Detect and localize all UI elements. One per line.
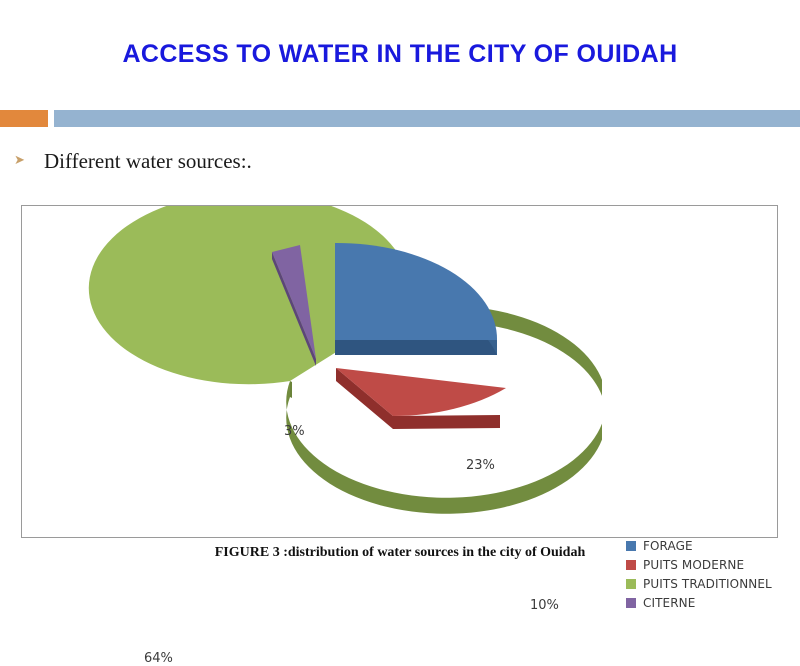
- pie-chart: 3% 23% 10% 64%: [22, 206, 602, 539]
- accent-bar-blue: [54, 110, 800, 127]
- bullet-text: Different water sources:.: [44, 145, 252, 177]
- legend-swatch-icon: [626, 560, 636, 570]
- bullet-arrow-icon: ➤: [14, 154, 25, 167]
- pie-slice-forage[interactable]: [335, 243, 497, 355]
- pie-label-puits-traditionnel: 64%: [144, 651, 173, 666]
- pie-chart-svg: [22, 206, 602, 539]
- legend-swatch-icon: [626, 598, 636, 608]
- legend-swatch-icon: [626, 579, 636, 589]
- page-title: ACCESS TO WATER IN THE CITY OF OUIDAH: [0, 40, 800, 69]
- pie-slice-puits-moderne[interactable]: [336, 368, 506, 429]
- legend-label: CITERNE: [643, 596, 695, 610]
- chart-container: 3% 23% 10% 64% FORAGE PUITS MODERNE PUIT…: [21, 205, 778, 538]
- pie-label-citerne: 3%: [284, 424, 305, 439]
- legend-label: PUITS TRADITIONNEL: [643, 577, 772, 591]
- pie-label-puits-moderne: 10%: [530, 598, 559, 613]
- legend-item-puits-traditionnel[interactable]: PUITS TRADITIONNEL: [626, 574, 800, 593]
- accent-bar-orange: [0, 110, 48, 127]
- pie-label-forage: 23%: [466, 458, 495, 473]
- bullet-row: ➤ Different water sources:.: [0, 145, 800, 179]
- legend-item-citerne[interactable]: CITERNE: [626, 593, 800, 612]
- chart-caption: FIGURE 3 :distribution of water sources …: [0, 545, 800, 561]
